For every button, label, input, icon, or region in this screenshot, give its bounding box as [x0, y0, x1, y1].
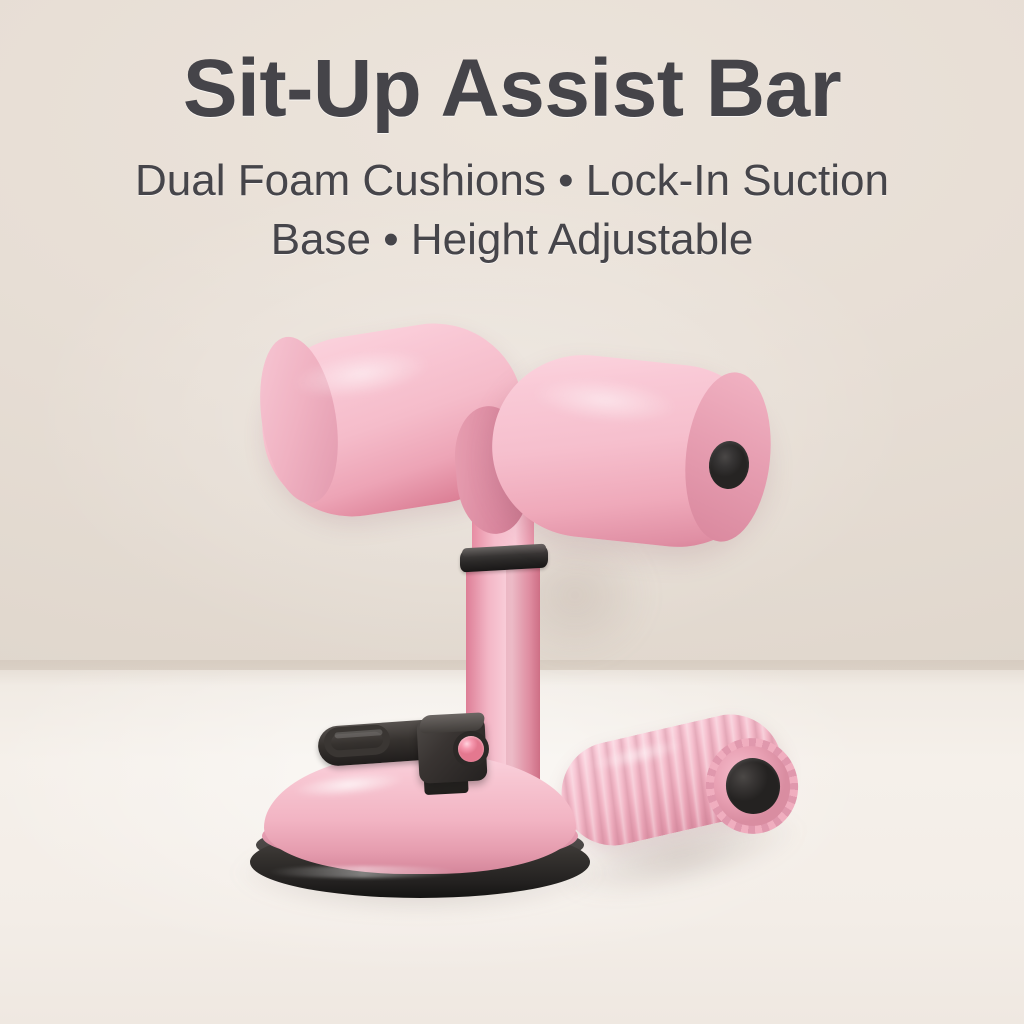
- subtitle-line-1: Dual Foam Cushions • Lock-In Suction: [97, 152, 927, 211]
- subtitle-line-2: Base • Height Adjustable: [97, 211, 927, 270]
- lock-lever-loop-handle[interactable]: [323, 724, 391, 759]
- page-subtitle: Dual Foam Cushions • Lock-In Suction Bas…: [97, 152, 927, 270]
- release-button[interactable]: [458, 736, 484, 762]
- page-title: Sit-Up Assist Bar: [0, 48, 1024, 130]
- suction-base-ring-highlight: [268, 866, 458, 878]
- headline-block: Sit-Up Assist Bar Dual Foam Cushions • L…: [0, 48, 1024, 270]
- product-poster: Sit-Up Assist Bar Dual Foam Cushions • L…: [0, 0, 1024, 1024]
